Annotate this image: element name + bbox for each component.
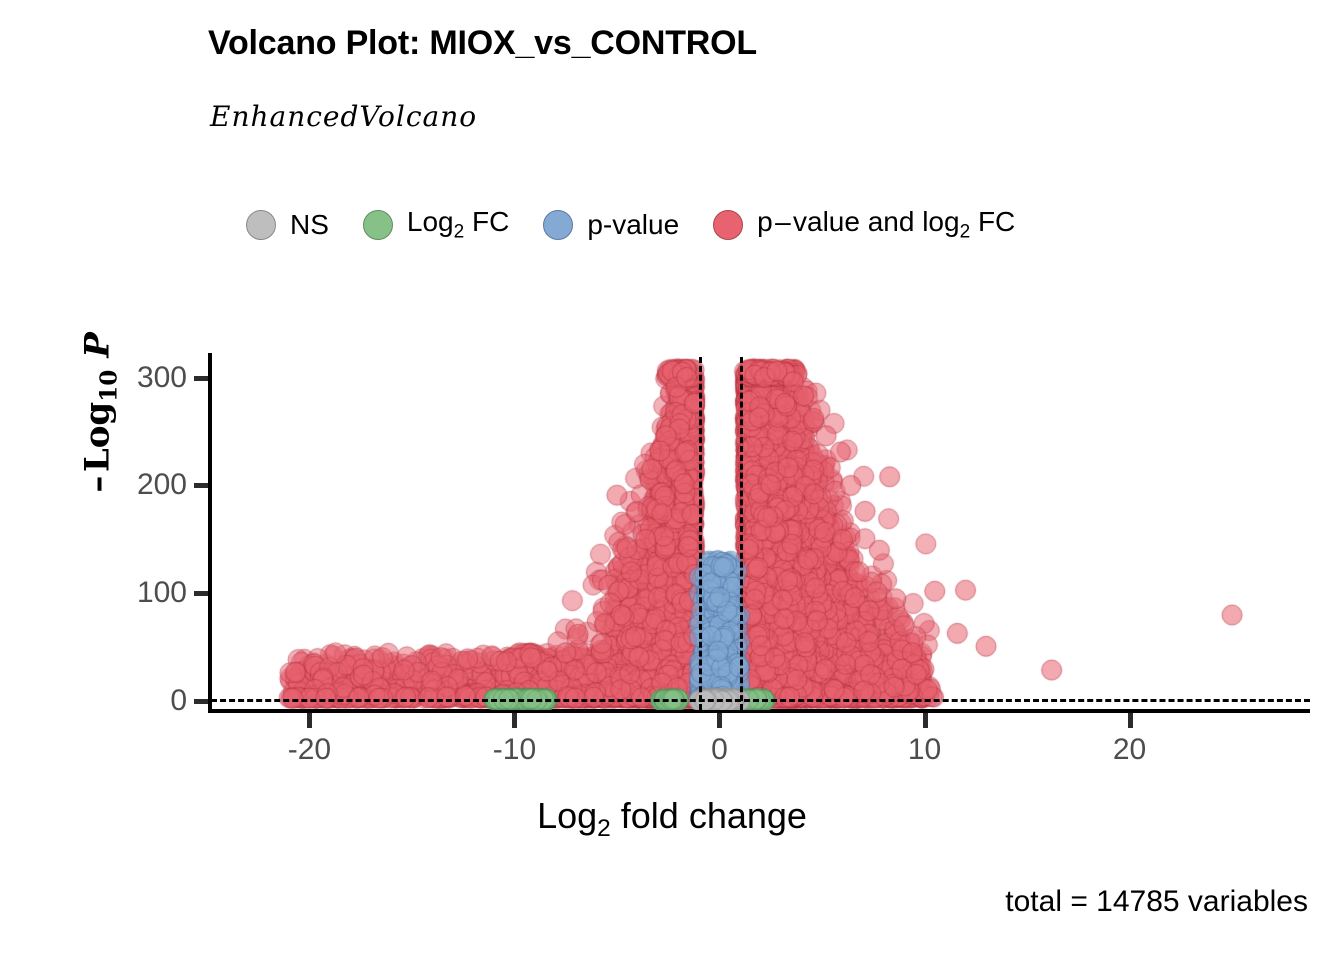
plot-area <box>211 357 1310 710</box>
scatter-points-canvas <box>211 357 1310 710</box>
pvalue-threshold-line <box>211 699 1310 702</box>
circle-icon <box>543 210 573 240</box>
log2fc-threshold-line-positive <box>740 357 743 710</box>
caption-total-variables: total = 14785 variables <box>1005 885 1308 919</box>
x-tick-label: 20 <box>1113 733 1146 767</box>
legend-label-ns: NS <box>290 209 329 241</box>
x-tick <box>1128 713 1133 728</box>
legend-label-log2fc: Log2 FC <box>407 206 509 244</box>
x-tick-label: -10 <box>493 733 536 767</box>
legend-item-pvalue-and-log2fc[interactable]: p – value and log2 FC <box>713 206 1015 244</box>
x-tick <box>512 713 517 728</box>
page-title: Volcano Plot: MIOX_vs_CONTROL <box>208 24 757 63</box>
y-axis-title: – Log10 P <box>78 242 123 582</box>
y-tick-label: 0 <box>170 684 187 718</box>
y-tick-label: 200 <box>137 468 187 502</box>
x-axis-title: Log2 fold change <box>0 795 1344 843</box>
legend-item-pvalue[interactable]: p-value <box>543 209 679 241</box>
x-tick-label: 0 <box>711 733 728 767</box>
y-tick <box>194 591 208 596</box>
x-tick <box>923 713 928 728</box>
y-tick <box>194 483 208 488</box>
x-tick-label: 10 <box>908 733 941 767</box>
x-tick-label: -20 <box>288 733 331 767</box>
legend: NS Log2 FC p-value p – value and log2 FC <box>246 200 1049 250</box>
y-tick <box>194 699 208 704</box>
circle-icon <box>713 210 743 240</box>
circle-icon <box>363 210 393 240</box>
circle-icon <box>246 210 276 240</box>
x-tick <box>717 713 722 728</box>
legend-label-pvalue-and-log2fc: p – value and log2 FC <box>757 206 1015 244</box>
subtitle: EnhancedVolcano <box>210 100 477 133</box>
y-tick-label: 300 <box>137 361 187 395</box>
y-tick-label: 100 <box>137 576 187 610</box>
legend-label-pvalue: p-value <box>587 209 679 241</box>
legend-item-ns[interactable]: NS <box>246 209 329 241</box>
volcano-plot-figure: Volcano Plot: MIOX_vs_CONTROL EnhancedVo… <box>0 0 1344 960</box>
log2fc-threshold-line-negative <box>699 357 702 710</box>
x-tick <box>307 713 312 728</box>
legend-item-log2fc[interactable]: Log2 FC <box>363 206 509 244</box>
y-tick <box>194 376 208 381</box>
